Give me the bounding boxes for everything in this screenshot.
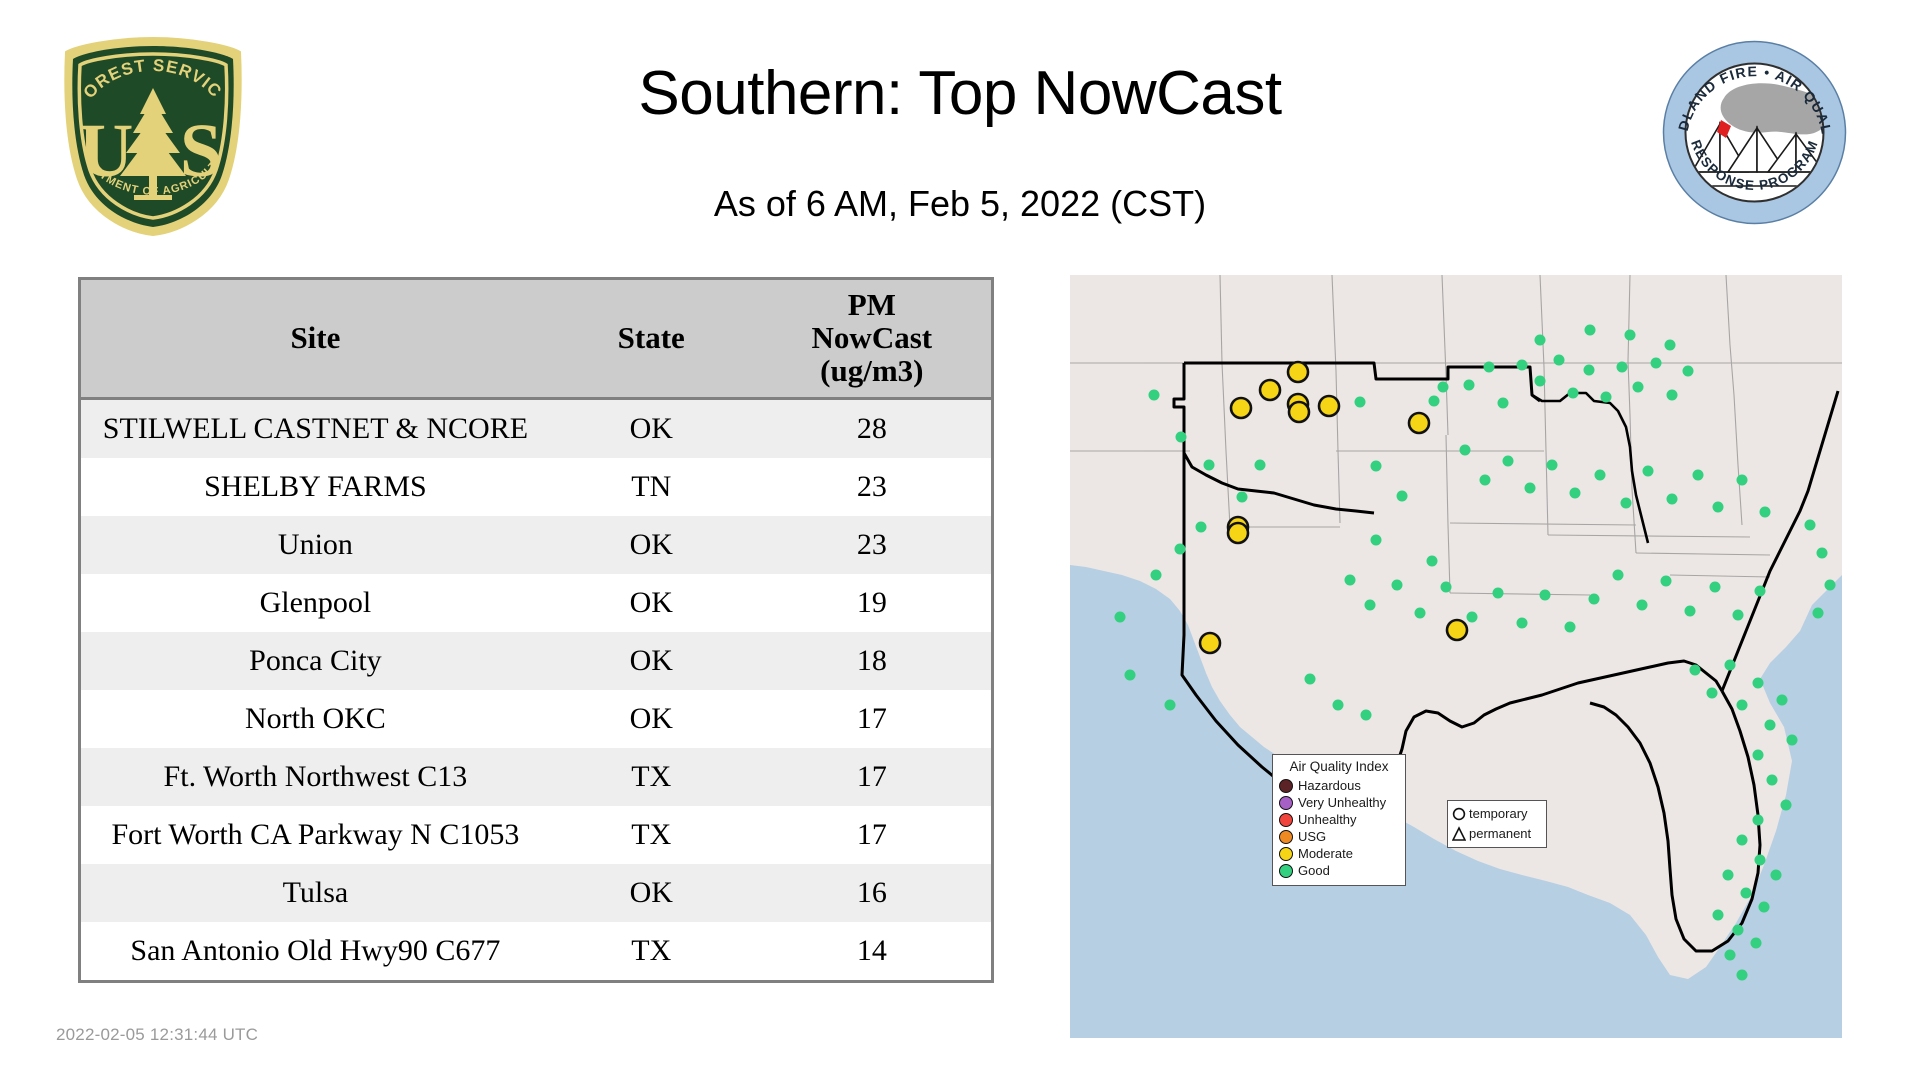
monitor-marker-good[interactable]: [1753, 750, 1764, 761]
legend-item-label: USG: [1298, 830, 1326, 844]
cell-pm-nowcast: 14: [753, 922, 991, 980]
legend-swatch-icon: [1279, 830, 1293, 844]
legend-item-hazardous: Hazardous: [1279, 777, 1399, 794]
monitor-marker-good[interactable]: [1787, 735, 1798, 746]
column-header-pm-line1: PM: [757, 289, 987, 322]
monitor-marker-good[interactable]: [1710, 582, 1721, 593]
monitor-marker-good[interactable]: [1707, 688, 1718, 699]
cell-state: TX: [550, 922, 753, 980]
cell-site: SHELBY FARMS: [81, 458, 550, 516]
site-type-label-temporary: temporary: [1469, 807, 1528, 821]
legend-item-label: Unhealthy: [1298, 813, 1357, 827]
monitor-marker-good[interactable]: [1517, 618, 1528, 629]
monitor-marker-good[interactable]: [1151, 570, 1162, 581]
cell-state: OK: [550, 398, 753, 458]
monitor-marker-moderate[interactable]: [1447, 620, 1467, 640]
legend-item-moderate: Moderate: [1279, 845, 1399, 862]
monitor-marker-good[interactable]: [1392, 580, 1403, 591]
generated-timestamp: 2022-02-05 12:31:44 UTC: [56, 1025, 258, 1045]
monitor-marker-good[interactable]: [1547, 460, 1558, 471]
cell-pm-nowcast: 16: [753, 864, 991, 922]
cell-site: Fort Worth CA Parkway N C1053: [81, 806, 550, 864]
site-type-row-temporary: temporary: [1452, 804, 1542, 824]
monitor-marker-good[interactable]: [1427, 556, 1438, 567]
legend-item-label: Moderate: [1298, 847, 1353, 861]
monitor-marker-good[interactable]: [1355, 397, 1366, 408]
monitor-marker-good[interactable]: [1690, 665, 1701, 676]
monitor-marker-good[interactable]: [1503, 456, 1514, 467]
monitor-marker-good[interactable]: [1643, 466, 1654, 477]
monitor-marker-good[interactable]: [1753, 815, 1764, 826]
legend-item-usg: USG: [1279, 828, 1399, 845]
column-header-site: Site: [81, 280, 550, 398]
table-row: GlenpoolOK19: [81, 574, 991, 632]
monitor-marker-good[interactable]: [1651, 358, 1662, 369]
monitor-marker-good[interactable]: [1125, 670, 1136, 681]
slide-root: FOREST SERVICE DEPARTMENT OF AGRICULTURE…: [0, 0, 1920, 1080]
monitor-marker-good[interactable]: [1517, 360, 1528, 371]
cell-site: Union: [81, 516, 550, 574]
table-row: Fort Worth CA Parkway N C1053TX17: [81, 806, 991, 864]
page-title: Southern: Top NowCast: [0, 58, 1920, 130]
cell-state: OK: [550, 690, 753, 748]
monitor-marker-good[interactable]: [1755, 855, 1766, 866]
monitor-marker-good[interactable]: [1535, 335, 1546, 346]
monitor-marker-good[interactable]: [1751, 938, 1762, 949]
monitor-marker-good[interactable]: [1741, 888, 1752, 899]
cell-site: North OKC: [81, 690, 550, 748]
monitor-marker-moderate[interactable]: [1319, 396, 1339, 416]
page-subtitle: As of 6 AM, Feb 5, 2022 (CST): [0, 182, 1920, 226]
table-row: STILWELL CASTNET & NCOREOK28: [81, 398, 991, 458]
monitor-marker-good[interactable]: [1813, 608, 1824, 619]
cell-pm-nowcast: 17: [753, 690, 991, 748]
monitor-marker-good[interactable]: [1771, 870, 1782, 881]
monitor-marker-good[interactable]: [1464, 380, 1475, 391]
table-row: UnionOK23: [81, 516, 991, 574]
monitor-marker-good[interactable]: [1585, 325, 1596, 336]
monitor-marker-good[interactable]: [1255, 460, 1266, 471]
monitor-marker-good[interactable]: [1613, 570, 1624, 581]
site-type-legend: temporary permanent: [1447, 800, 1547, 848]
monitor-marker-good[interactable]: [1460, 445, 1471, 456]
cell-pm-nowcast: 17: [753, 806, 991, 864]
monitor-marker-good[interactable]: [1777, 695, 1788, 706]
cell-state: OK: [550, 574, 753, 632]
monitor-marker-good[interactable]: [1480, 475, 1491, 486]
table-row: San Antonio Old Hwy90 C677TX14: [81, 922, 991, 980]
monitor-marker-good[interactable]: [1595, 470, 1606, 481]
monitor-marker-moderate[interactable]: [1200, 633, 1220, 653]
legend-item-label: Very Unhealthy: [1298, 796, 1386, 810]
monitor-marker-good[interactable]: [1493, 588, 1504, 599]
table-head: Site State PM NowCast (ug/m3): [81, 280, 991, 398]
monitor-marker-good[interactable]: [1438, 382, 1449, 393]
monitor-marker-good[interactable]: [1165, 700, 1176, 711]
monitor-marker-good[interactable]: [1237, 492, 1248, 503]
monitor-marker-good[interactable]: [1525, 483, 1536, 494]
monitor-marker-good[interactable]: [1584, 365, 1595, 376]
monitor-marker-moderate[interactable]: [1231, 398, 1251, 418]
monitor-marker-good[interactable]: [1441, 582, 1452, 593]
cell-pm-nowcast: 18: [753, 632, 991, 690]
monitor-marker-good[interactable]: [1175, 544, 1186, 555]
cell-pm-nowcast: 19: [753, 574, 991, 632]
cell-state: OK: [550, 516, 753, 574]
cell-pm-nowcast: 23: [753, 516, 991, 574]
monitor-marker-moderate[interactable]: [1289, 402, 1309, 422]
table-row: Ft. Worth Northwest C13TX17: [81, 748, 991, 806]
monitor-map[interactable]: [1070, 275, 1842, 1038]
monitor-marker-good[interactable]: [1570, 488, 1581, 499]
monitor-marker-good[interactable]: [1725, 950, 1736, 961]
table-row: TulsaOK16: [81, 864, 991, 922]
cell-site: Ponca City: [81, 632, 550, 690]
legend-title: Air Quality Index: [1279, 759, 1399, 774]
cell-site: STILWELL CASTNET & NCORE: [81, 398, 550, 458]
monitor-marker-moderate[interactable]: [1409, 413, 1429, 433]
monitor-marker-good[interactable]: [1817, 548, 1828, 559]
monitor-marker-good[interactable]: [1429, 396, 1440, 407]
monitor-marker-good[interactable]: [1737, 970, 1748, 981]
monitor-marker-good[interactable]: [1683, 366, 1694, 377]
cell-state: TN: [550, 458, 753, 516]
triangle-icon: [1452, 826, 1466, 842]
monitor-marker-good[interactable]: [1365, 600, 1376, 611]
cell-state: OK: [550, 632, 753, 690]
monitor-marker-good[interactable]: [1333, 700, 1344, 711]
monitor-marker-good[interactable]: [1484, 362, 1495, 373]
monitor-marker-good[interactable]: [1397, 491, 1408, 502]
table-body: STILWELL CASTNET & NCOREOK28SHELBY FARMS…: [81, 398, 991, 980]
monitor-marker-good[interactable]: [1725, 660, 1736, 671]
monitor-marker-good[interactable]: [1760, 507, 1771, 518]
site-type-label-permanent: permanent: [1469, 827, 1531, 841]
circle-icon: [1452, 806, 1466, 822]
monitor-marker-good[interactable]: [1568, 388, 1579, 399]
legend-rows: HazardousVery UnhealthyUnhealthyUSGModer…: [1279, 777, 1399, 879]
legend-swatch-icon: [1279, 813, 1293, 827]
monitor-marker-good[interactable]: [1665, 340, 1676, 351]
table-row: SHELBY FARMSTN23: [81, 458, 991, 516]
legend-swatch-icon: [1279, 796, 1293, 810]
monitor-marker-good[interactable]: [1781, 800, 1792, 811]
monitor-marker-good[interactable]: [1723, 870, 1734, 881]
monitor-marker-moderate[interactable]: [1260, 380, 1280, 400]
monitor-marker-good[interactable]: [1361, 710, 1372, 721]
monitor-marker-good[interactable]: [1601, 392, 1612, 403]
cell-state: TX: [550, 748, 753, 806]
monitor-marker-good[interactable]: [1765, 720, 1776, 731]
air-quality-index-legend: Air Quality Index HazardousVery Unhealth…: [1272, 754, 1406, 886]
cell-site: San Antonio Old Hwy90 C677: [81, 922, 550, 980]
monitor-marker-good[interactable]: [1554, 355, 1565, 366]
monitor-marker-good[interactable]: [1637, 600, 1648, 611]
table-header-row: Site State PM NowCast (ug/m3): [81, 280, 991, 398]
table-row: Ponca CityOK18: [81, 632, 991, 690]
monitor-marker-good[interactable]: [1305, 674, 1316, 685]
monitor-marker-good[interactable]: [1667, 494, 1678, 505]
monitor-marker-good[interactable]: [1371, 461, 1382, 472]
cell-pm-nowcast: 23: [753, 458, 991, 516]
monitor-marker-good[interactable]: [1713, 910, 1724, 921]
monitor-marker-good[interactable]: [1149, 390, 1160, 401]
monitor-marker-good[interactable]: [1733, 925, 1744, 936]
monitor-marker-good[interactable]: [1713, 502, 1724, 513]
legend-item-good: Good: [1279, 862, 1399, 879]
monitor-marker-good[interactable]: [1204, 460, 1215, 471]
column-header-pm-line2: NowCast: [757, 322, 987, 355]
monitor-marker-good[interactable]: [1345, 575, 1356, 586]
column-header-pm-nowcast: PM NowCast (ug/m3): [753, 280, 991, 398]
legend-item-very-unhealthy: Very Unhealthy: [1279, 794, 1399, 811]
site-type-row-permanent: permanent: [1452, 824, 1542, 844]
cell-pm-nowcast: 28: [753, 398, 991, 458]
monitor-marker-good[interactable]: [1621, 498, 1632, 509]
cell-site: Tulsa: [81, 864, 550, 922]
top-nowcast-table-container: Site State PM NowCast (ug/m3) STILWELL C…: [78, 277, 994, 983]
cell-site: Ft. Worth Northwest C13: [81, 748, 550, 806]
monitor-marker-good[interactable]: [1467, 612, 1478, 623]
legend-item-label: Good: [1298, 864, 1330, 878]
monitor-marker-good[interactable]: [1685, 606, 1696, 617]
monitor-marker-good[interactable]: [1589, 594, 1600, 605]
cell-state: OK: [550, 864, 753, 922]
monitor-marker-good[interactable]: [1733, 610, 1744, 621]
monitor-marker-good[interactable]: [1196, 522, 1207, 533]
monitor-marker-good[interactable]: [1737, 835, 1748, 846]
monitor-marker-good[interactable]: [1115, 612, 1126, 623]
monitor-marker-good[interactable]: [1625, 330, 1636, 341]
monitor-marker-good[interactable]: [1415, 608, 1426, 619]
cell-state: TX: [550, 806, 753, 864]
monitor-marker-good[interactable]: [1667, 390, 1678, 401]
monitor-marker-good[interactable]: [1633, 382, 1644, 393]
legend-swatch-icon: [1279, 847, 1293, 861]
monitor-marker-good[interactable]: [1767, 775, 1778, 786]
monitor-marker-good[interactable]: [1371, 535, 1382, 546]
monitor-marker-moderate[interactable]: [1228, 523, 1248, 543]
cell-site: Glenpool: [81, 574, 550, 632]
monitor-marker-good[interactable]: [1753, 678, 1764, 689]
monitor-marker-good[interactable]: [1535, 376, 1546, 387]
column-header-pm-line3: (ug/m3): [757, 355, 987, 388]
monitor-marker-good[interactable]: [1540, 590, 1551, 601]
top-nowcast-table: Site State PM NowCast (ug/m3) STILWELL C…: [81, 280, 991, 980]
monitor-marker-good[interactable]: [1825, 580, 1836, 591]
monitor-marker-moderate[interactable]: [1288, 362, 1308, 382]
legend-item-unhealthy: Unhealthy: [1279, 811, 1399, 828]
monitor-marker-good[interactable]: [1737, 700, 1748, 711]
legend-swatch-icon: [1279, 864, 1293, 878]
legend-swatch-icon: [1279, 779, 1293, 793]
monitor-marker-good[interactable]: [1805, 520, 1816, 531]
monitor-marker-good[interactable]: [1661, 576, 1672, 587]
monitor-marker-good[interactable]: [1176, 432, 1187, 443]
table-row: North OKCOK17: [81, 690, 991, 748]
monitor-marker-good[interactable]: [1565, 622, 1576, 633]
cell-pm-nowcast: 17: [753, 748, 991, 806]
monitor-marker-good[interactable]: [1498, 398, 1509, 409]
legend-item-label: Hazardous: [1298, 779, 1361, 793]
monitor-marker-good[interactable]: [1617, 362, 1628, 373]
column-header-state: State: [550, 280, 753, 398]
monitor-marker-good[interactable]: [1755, 586, 1766, 597]
monitor-marker-good[interactable]: [1737, 475, 1748, 486]
monitor-marker-good[interactable]: [1693, 470, 1704, 481]
monitor-marker-good[interactable]: [1759, 902, 1770, 913]
